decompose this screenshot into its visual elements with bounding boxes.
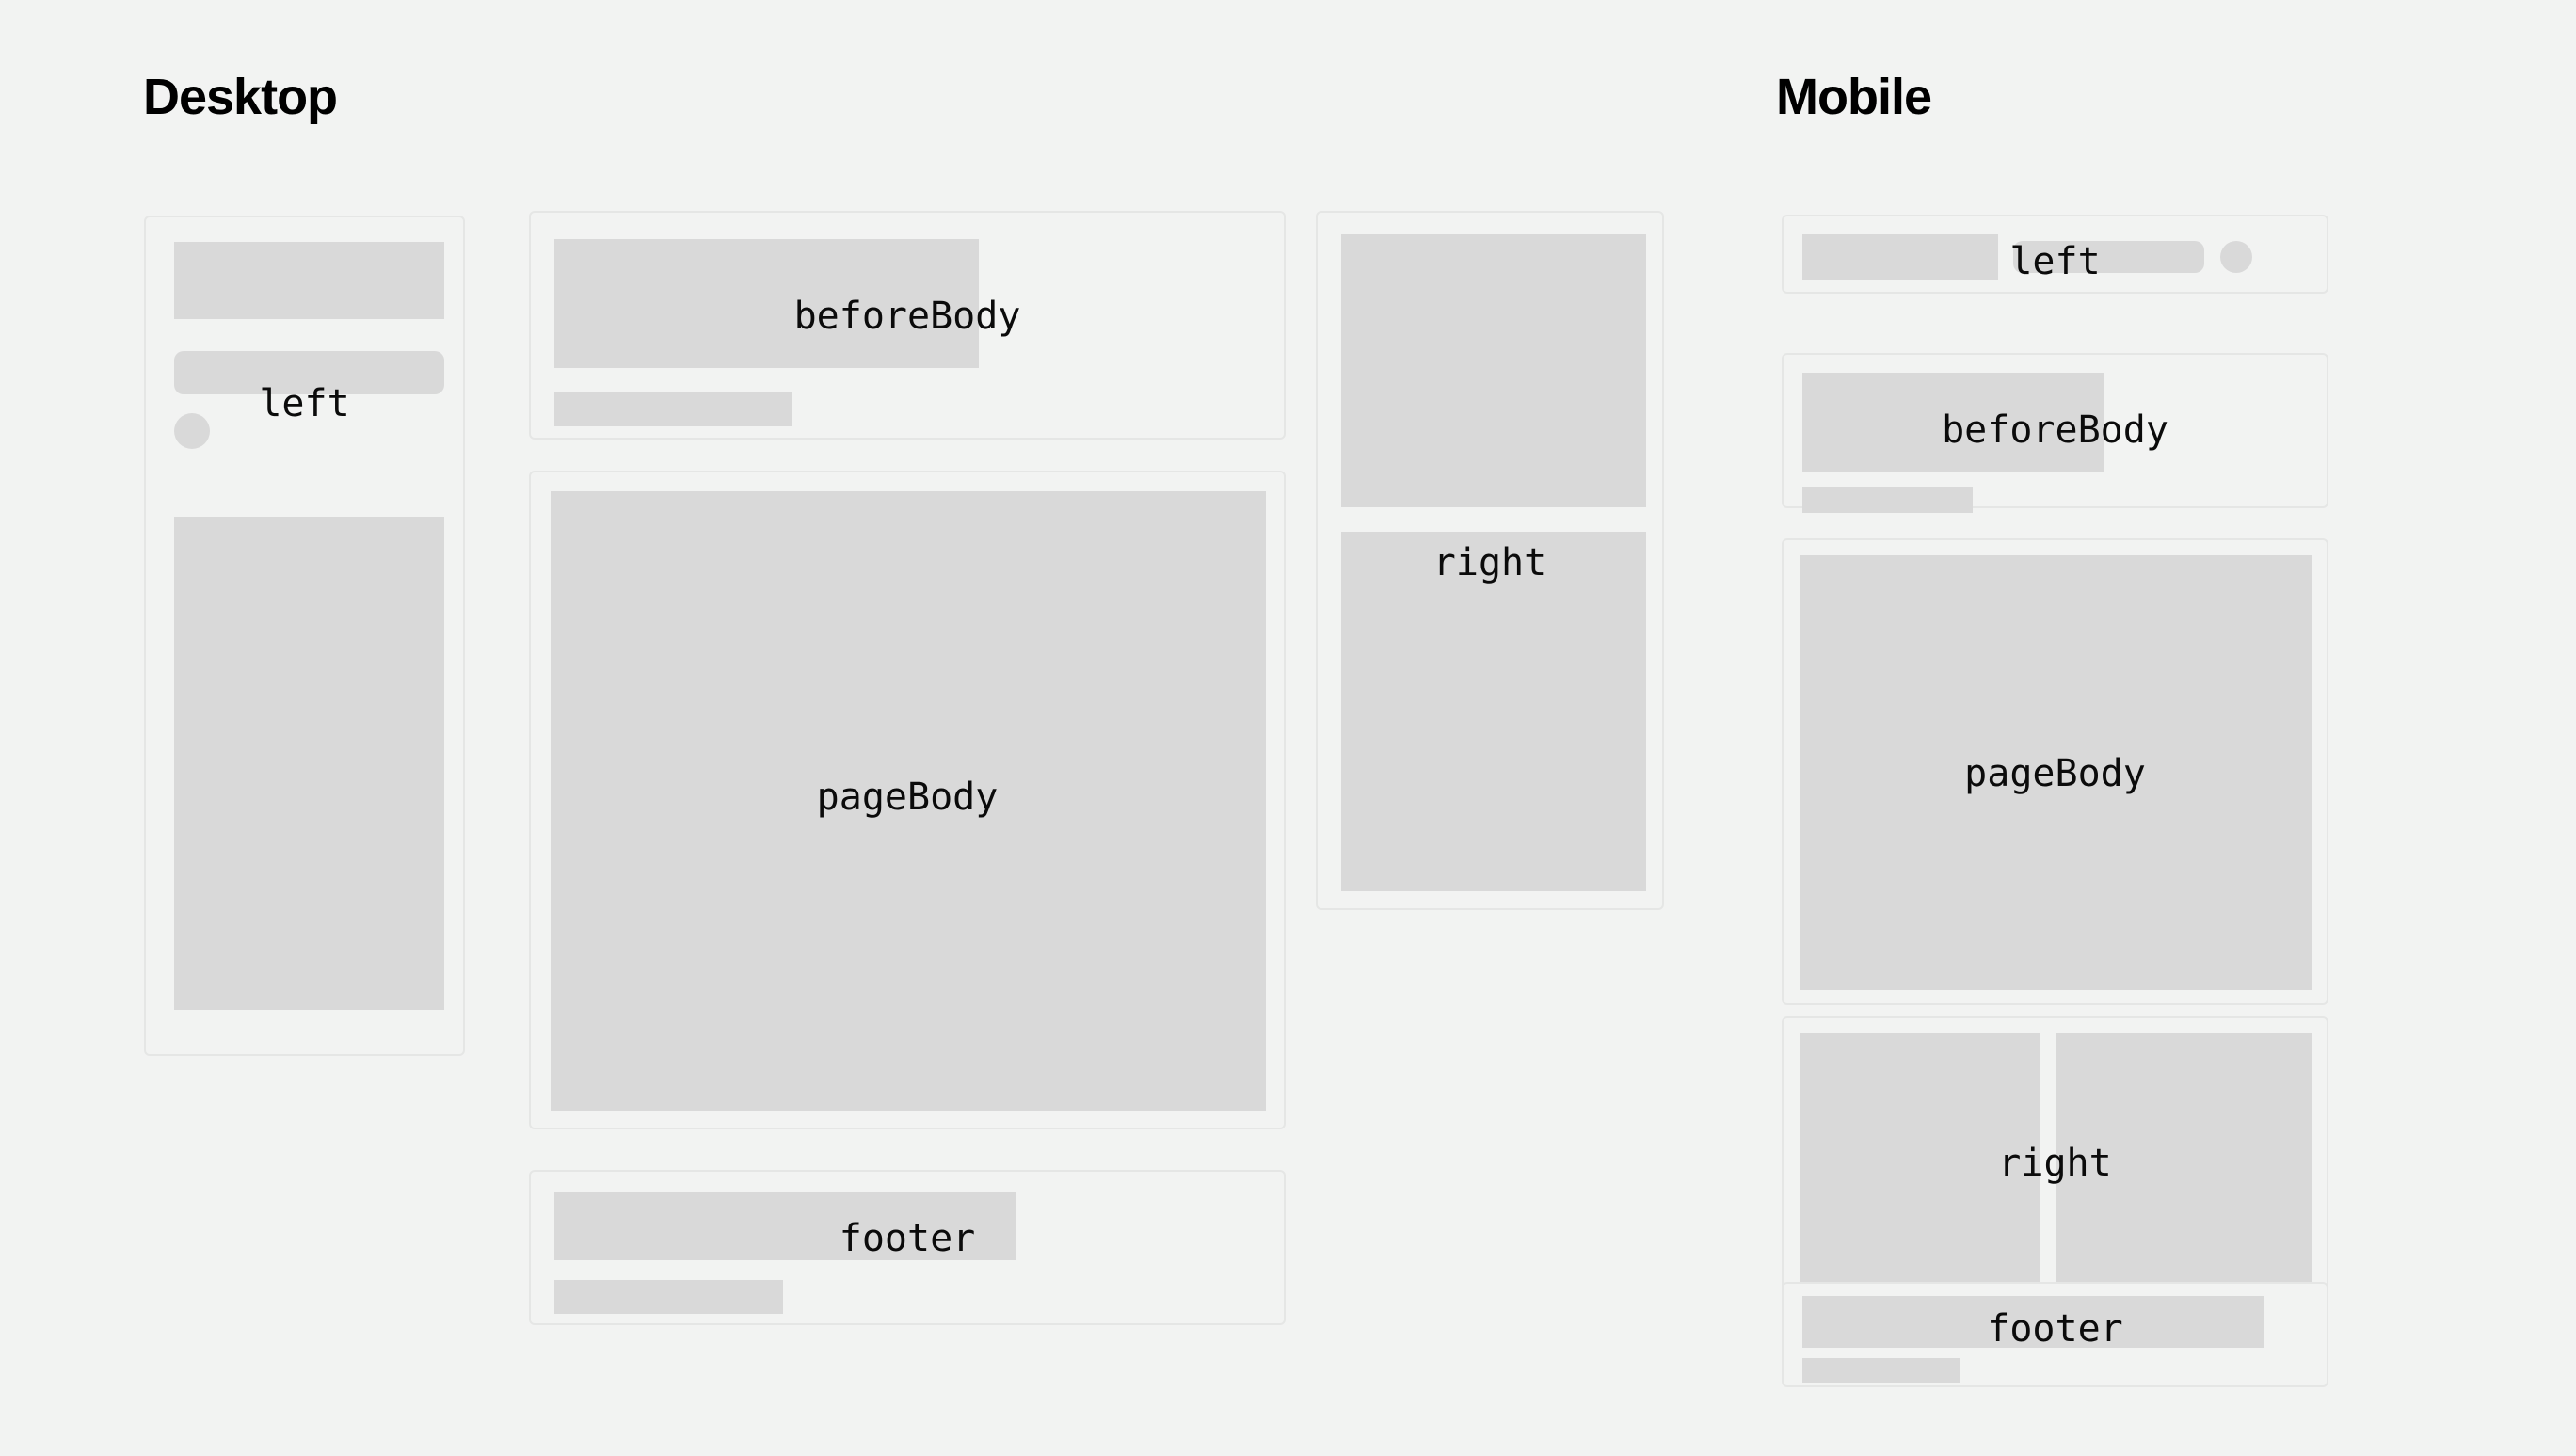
skeleton-bar [554, 392, 792, 426]
skeleton-block [1341, 532, 1646, 891]
avatar [2220, 241, 2252, 273]
skeleton-block [2056, 1033, 2312, 1288]
skeleton-block [551, 491, 1266, 1111]
mobile-region-right[interactable] [1782, 1016, 2328, 1301]
skeleton-block [1802, 373, 2104, 472]
desktop-region-right[interactable] [1316, 211, 1664, 910]
skeleton-block [174, 517, 444, 1010]
skeleton-block [174, 242, 444, 319]
desktop-region-footer[interactable] [529, 1170, 1286, 1325]
skeleton-block [554, 1192, 1016, 1260]
skeleton-bar [2013, 241, 2204, 273]
skeleton-bar [1802, 1358, 1960, 1383]
mobile-region-footer[interactable] [1782, 1282, 2328, 1387]
skeleton-block [554, 239, 979, 368]
skeleton-bar [174, 351, 444, 394]
skeleton-block [1802, 234, 1998, 280]
mobile-region-left[interactable] [1782, 215, 2328, 294]
mobile-heading: Mobile [1776, 72, 1931, 122]
mobile-region-pagebody[interactable] [1782, 538, 2328, 1005]
mobile-region-beforebody[interactable] [1782, 353, 2328, 508]
desktop-region-left[interactable] [144, 216, 465, 1056]
desktop-heading: Desktop [143, 72, 337, 122]
desktop-region-beforebody[interactable] [529, 211, 1286, 440]
desktop-preview-region: Desktop left beforeBody pageBody footer … [0, 0, 1694, 1456]
skeleton-block [1341, 234, 1646, 507]
skeleton-block [1800, 555, 2312, 990]
skeleton-bar [554, 1280, 783, 1314]
desktop-region-pagebody[interactable] [529, 471, 1286, 1129]
skeleton-block [1802, 1296, 2264, 1348]
skeleton-bar [1802, 487, 1973, 513]
skeleton-block [1800, 1033, 2040, 1288]
avatar [174, 413, 210, 449]
